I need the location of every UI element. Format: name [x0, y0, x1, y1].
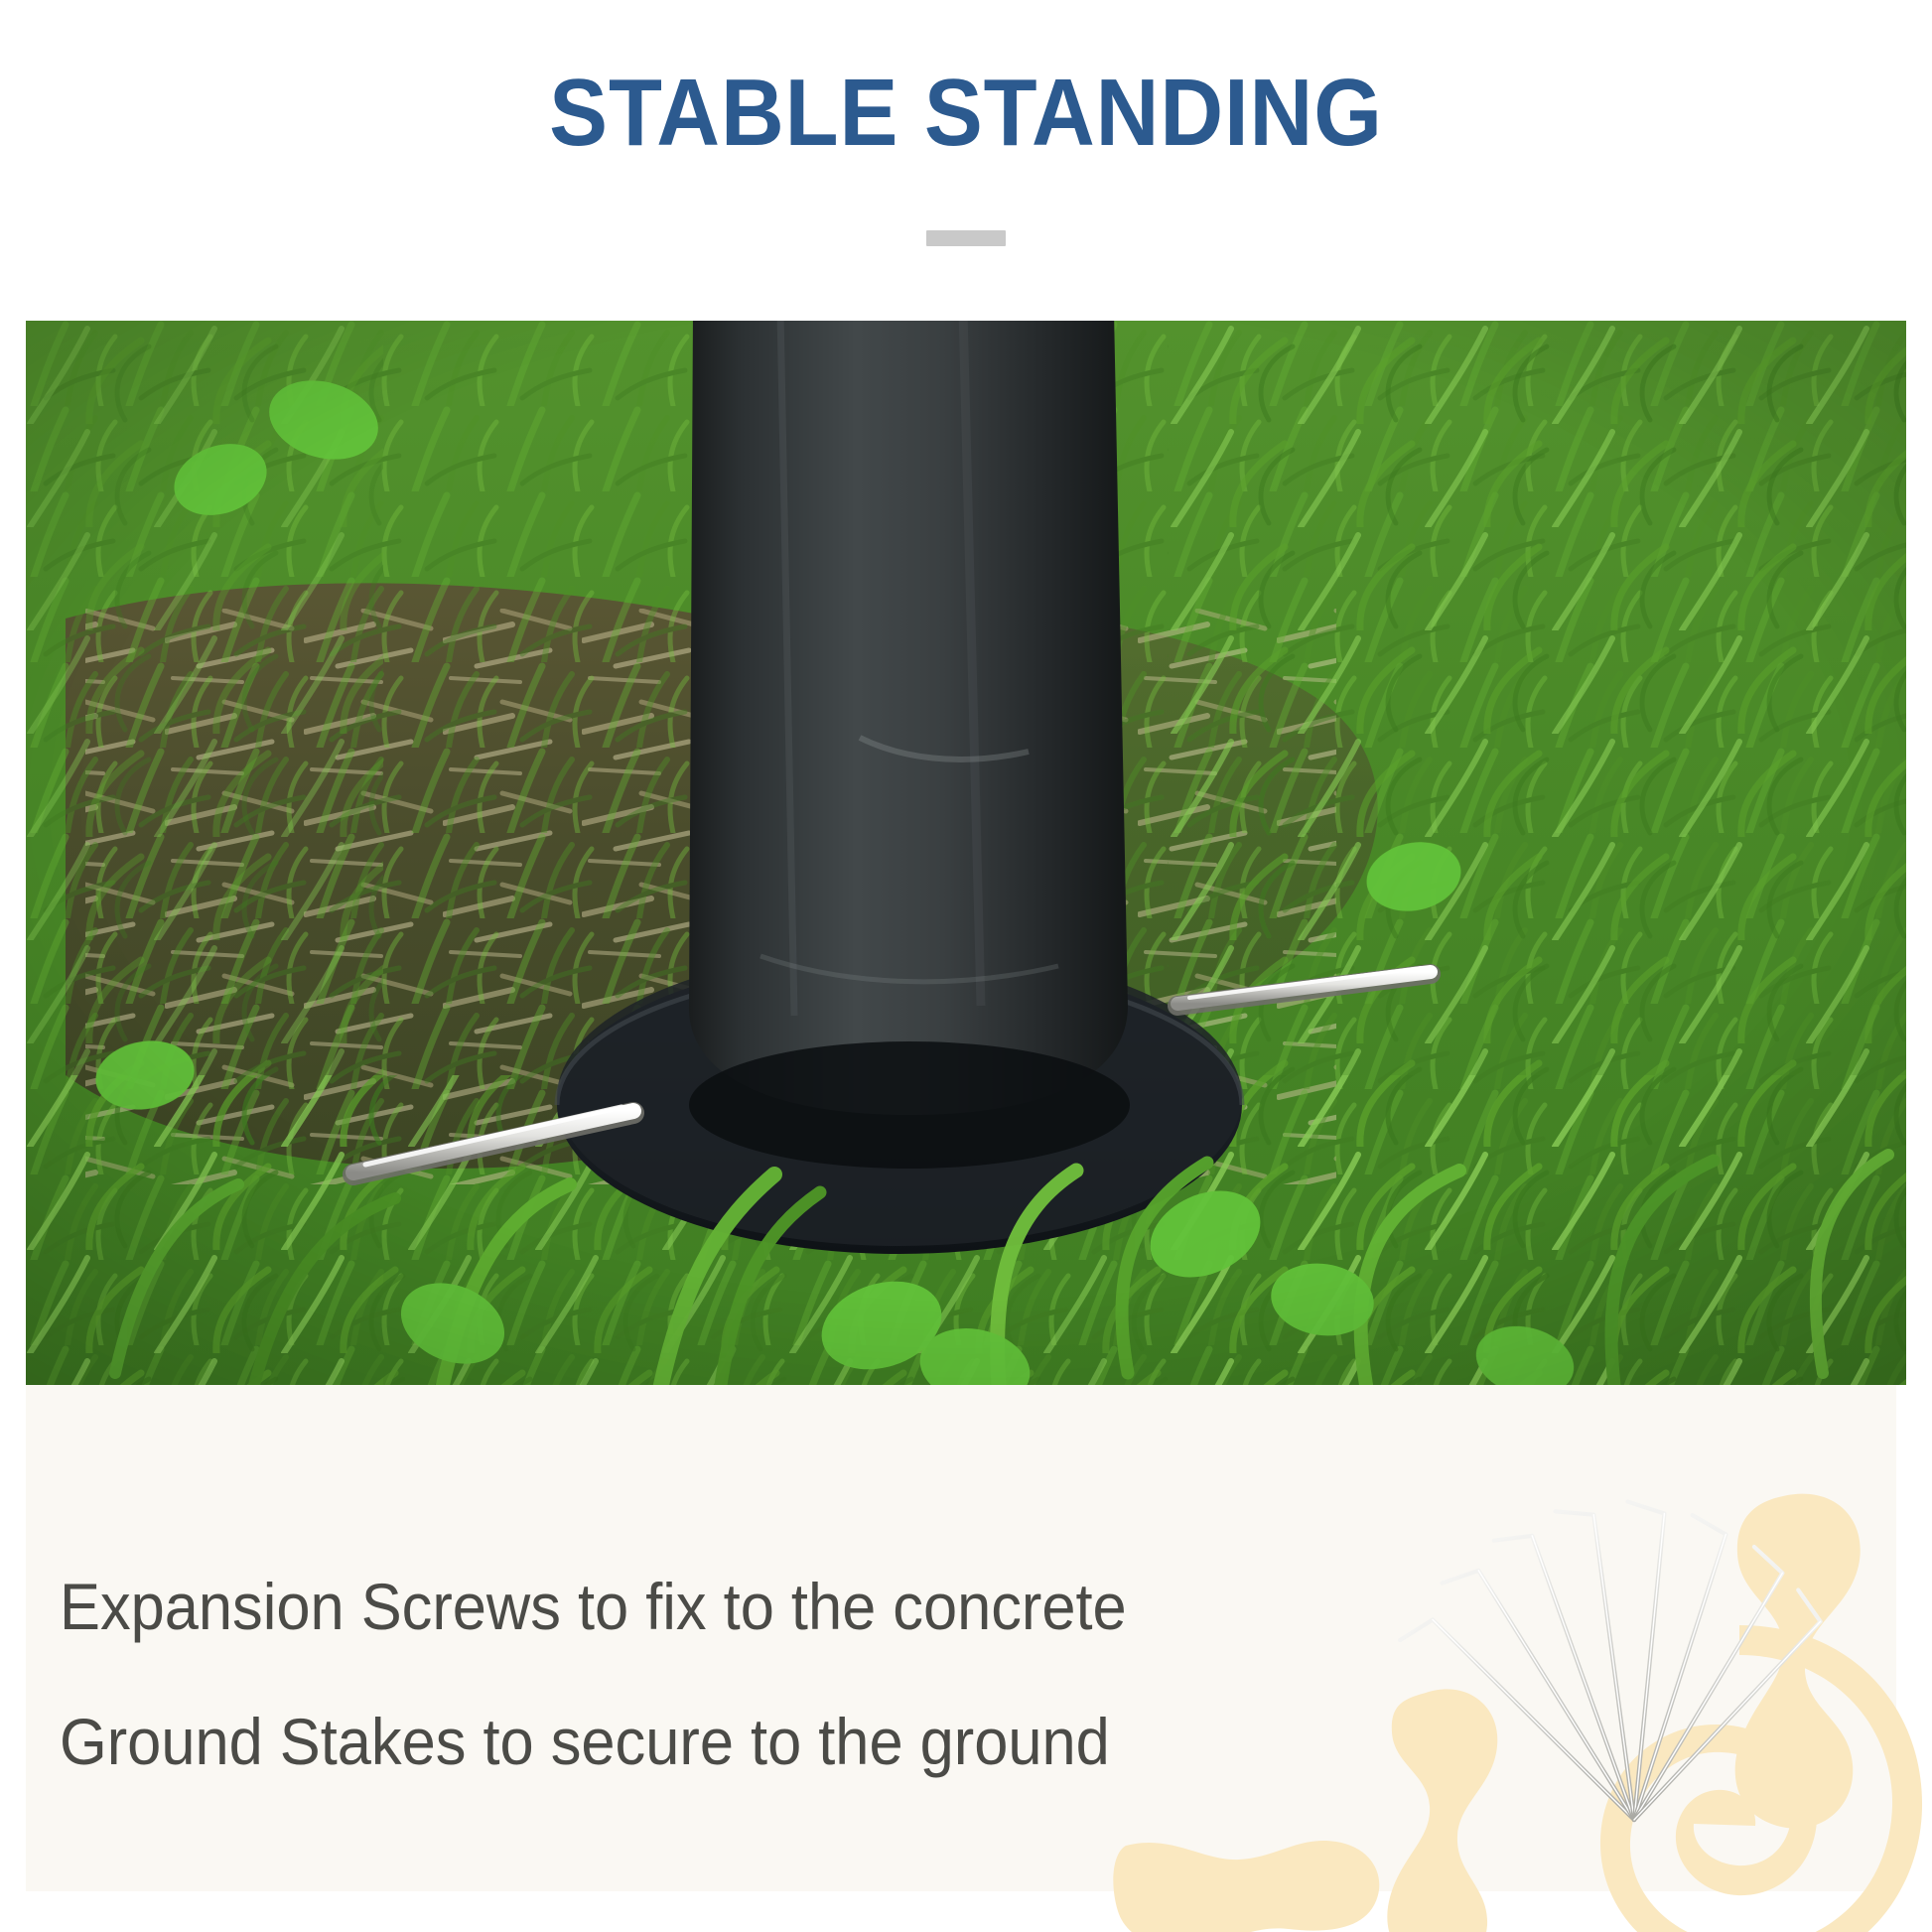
info-line-expansion-screws: Expansion Screws to fix to the concrete [60, 1539, 1241, 1674]
page-title: STABLE STANDING [77, 66, 1855, 161]
product-photo [26, 321, 1906, 1385]
info-text-block: Expansion Screws to fix to the concrete … [60, 1539, 1330, 1809]
ground-stakes-illustration [1346, 1492, 1902, 1869]
info-line-ground-stakes: Ground Stakes to secure to the ground [60, 1674, 1241, 1809]
info-panel: Expansion Screws to fix to the concrete … [26, 1385, 1896, 1891]
title-divider [926, 230, 1006, 246]
header-section: STABLE STANDING [0, 0, 1932, 321]
